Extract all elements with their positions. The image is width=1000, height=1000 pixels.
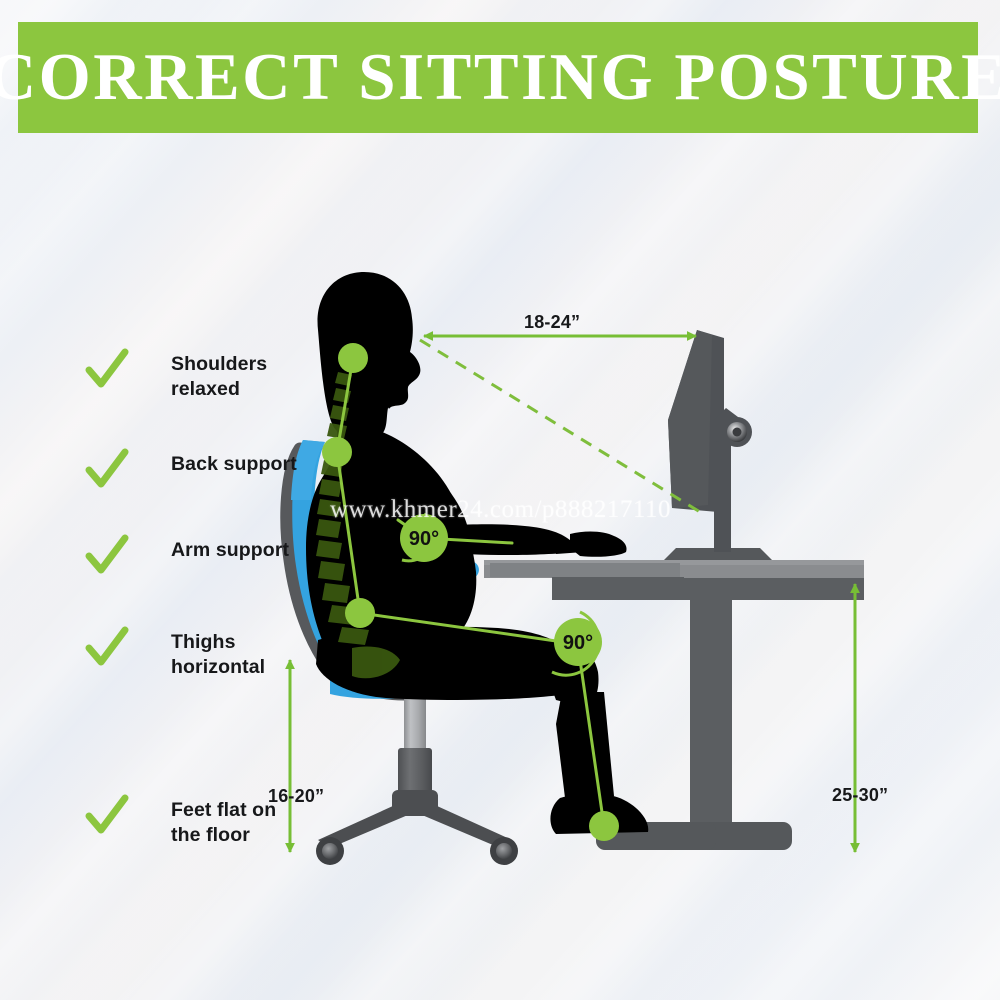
checklist-item-back-support[interactable]: Back support [85,452,297,492]
shoulder-joint [322,437,352,467]
checklist-label-thighs-horizontal: Thighs horizontal [171,630,265,680]
check-icon [85,448,129,492]
neck-joint [338,343,368,373]
checklist-label-feet-flat: Feet flat on the floor [171,798,276,848]
checklist-label-arm-support: Arm support [171,538,289,563]
computer-monitor [668,330,752,552]
measurement-label-desk-height: 25-30” [832,785,888,806]
check-icon [85,534,129,578]
posture-illustration: 90° 90° [0,0,1000,1000]
check-icon [85,794,129,838]
checklist-item-thighs-horizontal[interactable]: Thighs horizontal [85,630,265,680]
elbow-angle-badge: 90° [400,514,448,562]
hip-joint [345,598,375,628]
infographic-page: CORRECT SITTING POSTURE [0,0,1000,1000]
checklist-item-feet-flat[interactable]: Feet flat on the floor [85,798,276,848]
checklist-item-shoulders-relaxed[interactable]: Shoulders relaxed [85,352,267,402]
check-icon [85,348,129,392]
knee-angle-value: 90° [563,632,593,654]
check-icon [85,626,129,670]
desk [484,548,864,850]
knee-angle-badge: 90° [554,618,602,666]
eye-to-screen-sight-line [420,340,700,512]
ankle-joint [589,811,619,841]
elbow-angle-value: 90° [409,528,439,550]
chair-caster-right [490,837,518,865]
measurement-label-eye-to-screen: 18-24” [524,312,580,333]
checklist-label-shoulders-relaxed: Shoulders relaxed [171,352,267,402]
checklist-label-back-support: Back support [171,452,297,477]
checklist-item-arm-support[interactable]: Arm support [85,538,289,578]
measurement-label-seat-height: 16-20” [268,786,324,807]
chair-caster-left [316,837,344,865]
